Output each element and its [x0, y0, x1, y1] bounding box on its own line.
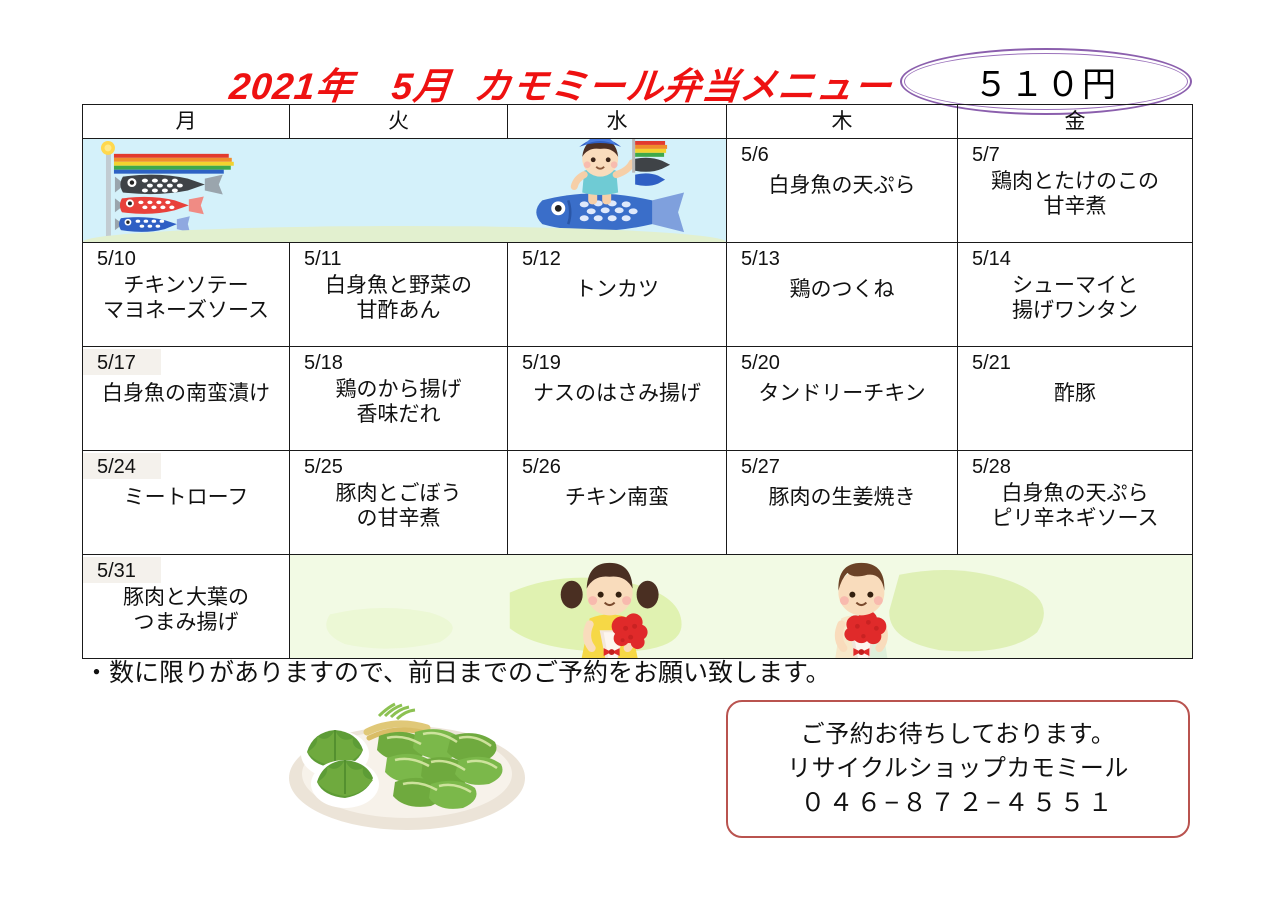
cell-menu: ミートローフ	[83, 479, 289, 511]
calendar-cell: 5/20 タンドリーチキン	[727, 347, 958, 451]
cell-date: 5/28	[958, 451, 1192, 479]
calendar-cell: 5/19 ナスのはさみ揚げ	[508, 347, 727, 451]
menu-calendar: 月 火 水 木 金	[82, 104, 1193, 659]
cell-menu: 鶏のつくね	[727, 271, 957, 303]
calendar-cell: 5/24 ミートローフ	[83, 451, 290, 555]
cell-date: 5/14	[958, 243, 1192, 271]
cell-date: 5/7	[958, 139, 1192, 167]
cell-menu: タンドリーチキン	[727, 375, 957, 407]
calendar-cell: 5/14 シューマイと 揚げワンタン	[958, 243, 1193, 347]
cell-date: 5/25	[290, 451, 507, 479]
page-title: 2021年 5月 カモミール弁当メニュー	[227, 56, 895, 110]
contact-shop-name: リサイクルショップカモミール	[787, 753, 1129, 785]
cell-date: 5/21	[958, 347, 1192, 375]
kashiwamochi-chimaki-illustration	[283, 702, 531, 838]
cell-menu: 白身魚の南蛮漬け	[83, 375, 289, 407]
calendar-cell: 5/26 チキン南蛮	[508, 451, 727, 555]
calendar-cell: 5/6 白身魚の天ぷら	[727, 139, 958, 243]
cell-date: 5/26	[508, 451, 726, 479]
cell-date: 5/6	[727, 139, 957, 167]
calendar-header-row: 月 火 水 木 金	[83, 105, 1193, 139]
calendar-cell: 5/27 豚肉の生姜焼き	[727, 451, 958, 555]
calendar-cell: 5/17 白身魚の南蛮漬け	[83, 347, 290, 451]
calendar-cell: 5/13 鶏のつくね	[727, 243, 958, 347]
calendar-cell: 5/11 白身魚と野菜の 甘酢あん	[290, 243, 508, 347]
cell-date: 5/11	[290, 243, 507, 271]
column-header-tue: 火	[290, 105, 508, 139]
cell-date: 5/31	[83, 555, 289, 583]
contact-line-1: ご予約お待ちしております。	[801, 719, 1116, 751]
cell-date: 5/19	[508, 347, 726, 375]
calendar-week-row: 5/6 白身魚の天ぷら 5/7 鶏肉とたけのこの 甘辛煮	[83, 139, 1193, 243]
cell-menu: 白身魚と野菜の 甘酢あん	[290, 271, 507, 323]
calendar-cell: 5/21 酢豚	[958, 347, 1193, 451]
price-text: ５１０円	[974, 57, 1118, 106]
food-plate-icon	[283, 702, 531, 838]
column-header-mon: 月	[83, 105, 290, 139]
contact-box: ご予約お待ちしております。 リサイクルショップカモミール ０４６−８７２−４５５…	[726, 700, 1190, 838]
cell-date: 5/10	[83, 243, 289, 271]
cell-date: 5/17	[83, 347, 289, 375]
calendar-week-row: 5/10 チキンソテー マヨネーズソース 5/11 白身魚と野菜の 甘酢あん 5…	[83, 243, 1193, 347]
column-header-fri: 金	[958, 105, 1193, 139]
calendar-cell: 5/31 豚肉と大葉の つまみ揚げ	[83, 555, 290, 659]
children-carnation-illustration	[290, 555, 1193, 659]
calendar-cell: 5/10 チキンソテー マヨネーズソース	[83, 243, 290, 347]
contact-phone: ０４６−８７２−４５５１	[800, 787, 1115, 819]
reservation-note: ・数に限りがありますので、前日までのご予約をお願い致します。	[84, 656, 831, 690]
carnation-children-icon	[290, 555, 1192, 658]
cell-date: 5/13	[727, 243, 957, 271]
calendar-week-row: 5/24 ミートローフ 5/25 豚肉とごぼう の甘辛煮 5/26 チキン南蛮 …	[83, 451, 1193, 555]
cell-menu: チキンソテー マヨネーズソース	[83, 271, 289, 323]
calendar-cell: 5/18 鶏のから揚げ 香味だれ	[290, 347, 508, 451]
cell-menu: 鶏肉とたけのこの 甘辛煮	[958, 167, 1192, 219]
cell-menu: 豚肉の生姜焼き	[727, 479, 957, 511]
calendar-cell: 5/25 豚肉とごぼう の甘辛煮	[290, 451, 508, 555]
cell-menu: ナスのはさみ揚げ	[508, 375, 726, 407]
cell-date: 5/20	[727, 347, 957, 375]
cell-date: 5/24	[83, 451, 289, 479]
calendar-week-row: 5/31 豚肉と大葉の つまみ揚げ	[83, 555, 1193, 659]
column-header-wed: 水	[508, 105, 727, 139]
cell-menu: 豚肉とごぼう の甘辛煮	[290, 479, 507, 531]
cell-date: 5/12	[508, 243, 726, 271]
cell-menu: 鶏のから揚げ 香味だれ	[290, 375, 507, 427]
cell-date: 5/18	[290, 347, 507, 375]
column-header-thu: 木	[727, 105, 958, 139]
cell-menu: トンカツ	[508, 271, 726, 303]
calendar-week-row: 5/17 白身魚の南蛮漬け 5/18 鶏のから揚げ 香味だれ 5/19 ナスのは…	[83, 347, 1193, 451]
koinobori-illustration	[83, 139, 727, 243]
cell-menu: 白身魚の天ぷら	[727, 167, 957, 199]
calendar-cell: 5/12 トンカツ	[508, 243, 727, 347]
cell-menu: 豚肉と大葉の つまみ揚げ	[83, 583, 289, 635]
cell-date: 5/27	[727, 451, 957, 479]
page-header: 2021年 5月 カモミール弁当メニュー ５１０円	[0, 22, 1280, 94]
calendar-cell: 5/28 白身魚の天ぷら ピリ辛ネギソース	[958, 451, 1193, 555]
cell-menu: チキン南蛮	[508, 479, 726, 511]
calendar-cell: 5/7 鶏肉とたけのこの 甘辛煮	[958, 139, 1193, 243]
cell-menu: シューマイと 揚げワンタン	[958, 271, 1192, 323]
cell-menu: 酢豚	[958, 375, 1192, 407]
cell-menu: 白身魚の天ぷら ピリ辛ネギソース	[958, 479, 1192, 531]
